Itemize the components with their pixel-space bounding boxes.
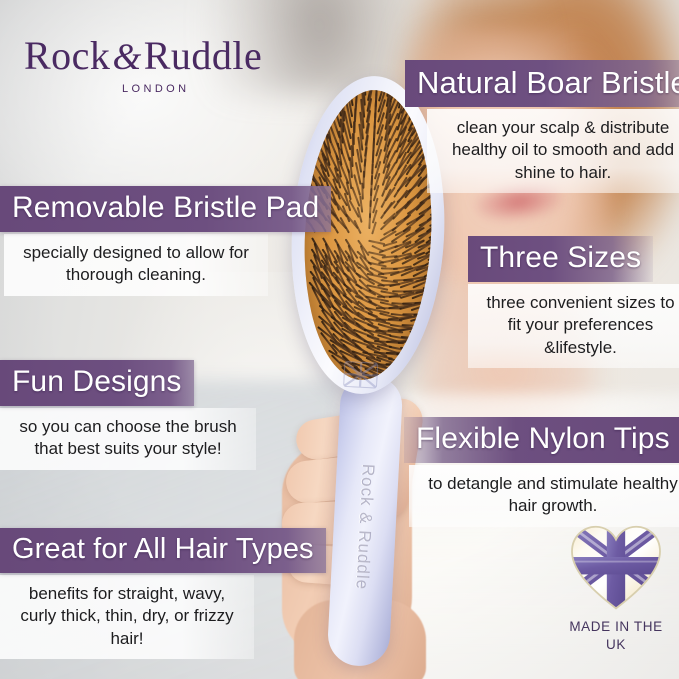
feature-title: Removable Bristle Pad bbox=[0, 186, 331, 232]
feature-title: Natural Boar Bristles bbox=[405, 60, 679, 107]
feature-title: Flexible Nylon Tips bbox=[404, 417, 679, 463]
union-jack-emblem-icon bbox=[343, 361, 378, 389]
feature-body: benefits for straight, wavy, curly thick… bbox=[0, 575, 254, 659]
made-in-uk-badge: MADE IN THE UK bbox=[556, 524, 676, 664]
feature-body: to detangle and stimulate healthy hair g… bbox=[409, 465, 679, 527]
made-in-uk-line1: MADE IN THE bbox=[556, 618, 676, 636]
union-jack-heart-icon bbox=[570, 524, 662, 612]
feature-body: three convenient sizes to fit your prefe… bbox=[468, 284, 679, 368]
feature-removable-bristle-pad: Removable Bristle Pad specially designed… bbox=[0, 186, 284, 296]
feature-natural-boar-bristles: Natural Boar Bristles clean your scalp &… bbox=[405, 60, 679, 193]
made-in-uk-line2: UK bbox=[556, 636, 676, 654]
handle-engraving: Rock & Ruddle bbox=[351, 463, 378, 590]
feature-fun-designs: Fun Designs so you can choose the brush … bbox=[0, 360, 240, 470]
brand-name: Rock&Ruddle bbox=[24, 36, 262, 76]
brand-subtitle: LONDON bbox=[122, 83, 262, 95]
feature-body: specially designed to allow for thorough… bbox=[4, 234, 268, 296]
brand-logo: Rock&Ruddle LONDON bbox=[24, 36, 262, 95]
product-infographic: Rock & Ruddle Rock&Ruddle LONDON Natural… bbox=[0, 0, 679, 679]
feature-title: Great for All Hair Types bbox=[0, 528, 326, 573]
feature-title: Fun Designs bbox=[0, 360, 194, 406]
brand-name-part2: Ruddle bbox=[144, 33, 263, 78]
feature-title: Three Sizes bbox=[468, 236, 653, 282]
brand-name-part1: Rock bbox=[24, 33, 110, 78]
made-in-uk-text: MADE IN THE UK bbox=[556, 618, 676, 654]
feature-body: so you can choose the brush that best su… bbox=[0, 408, 256, 470]
feature-three-sizes: Three Sizes three convenient sizes to fi… bbox=[468, 236, 679, 368]
brand-ampersand: & bbox=[110, 37, 143, 78]
feature-great-for-all-hair-types: Great for All Hair Types benefits for st… bbox=[0, 528, 290, 659]
boar-bristle bbox=[385, 363, 418, 365]
feature-body: clean your scalp & distribute healthy oi… bbox=[427, 109, 679, 193]
brush-handle: Rock & Ruddle bbox=[326, 375, 403, 668]
feature-flexible-nylon-tips: Flexible Nylon Tips to detangle and stim… bbox=[404, 417, 679, 527]
